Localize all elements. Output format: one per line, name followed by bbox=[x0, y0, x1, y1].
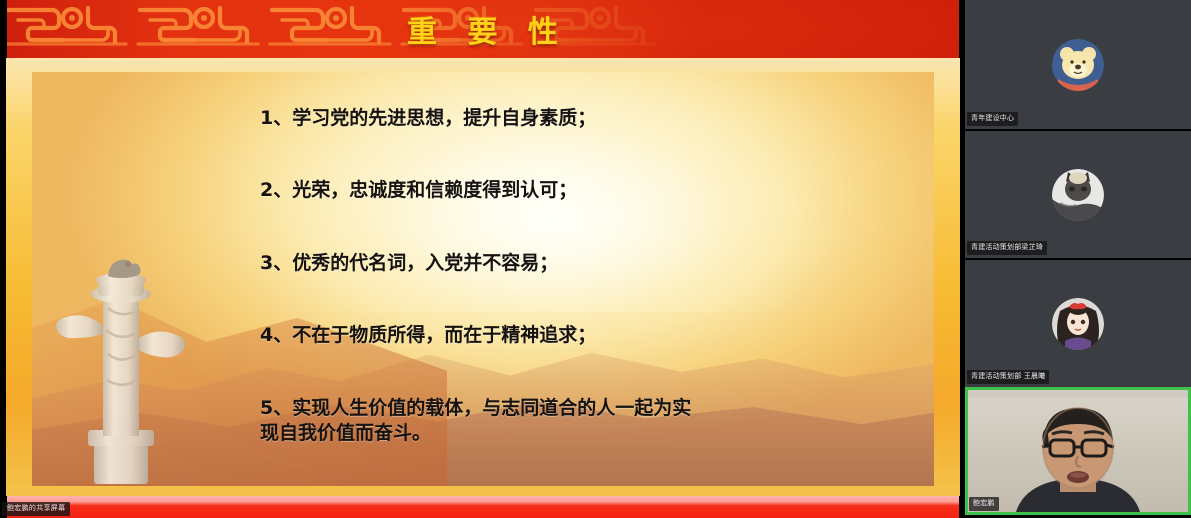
participant-tile[interactable]: 青建活动策划部 王晨曦 bbox=[965, 258, 1191, 387]
participant-tile[interactable]: 青建活动策划部梁芷琦 bbox=[965, 129, 1191, 258]
slide-title: 重 要 性 bbox=[0, 0, 965, 58]
list-item: 1、学习党的先进思想，提升自身素质； bbox=[260, 106, 900, 131]
participant-name: 青建活动策划部梁芷琦 bbox=[967, 241, 1047, 255]
banner-left-edge bbox=[0, 0, 7, 58]
participant-name: 鲍宏鹏 bbox=[969, 497, 999, 511]
pooh-bear-avatar-icon bbox=[1052, 39, 1104, 91]
slide-bottom-bar bbox=[0, 496, 965, 518]
presentation-slide: 重 要 性 bbox=[0, 0, 965, 518]
shared-screen-region[interactable]: 重 要 性 bbox=[0, 0, 965, 518]
participant-name: 青年建设中心 bbox=[967, 112, 1018, 126]
avatar bbox=[1052, 39, 1104, 91]
avatar bbox=[1052, 298, 1104, 350]
webcam-video-feed bbox=[968, 390, 1188, 512]
participant-tile[interactable]: 青年建设中心 bbox=[965, 0, 1191, 129]
participant-video-rail: 青年建设中心 青建活动策划部梁芷琦 bbox=[965, 0, 1191, 518]
slide-content-area: 1、学习党的先进思想，提升自身素质； 2、光荣，忠诚度和信赖度得到认可； 3、优… bbox=[32, 72, 934, 486]
webcam-person-image bbox=[968, 390, 1188, 512]
participant-name: 青建活动策划部 王晨曦 bbox=[967, 370, 1049, 384]
list-item: 2、光荣，忠诚度和信赖度得到认可； bbox=[260, 178, 900, 203]
list-item: 4、不在于物质所得，而在于精神追求； bbox=[260, 323, 900, 348]
huabiao-column-icon bbox=[56, 234, 188, 484]
shared-screen-nametag: 鲍宏鹏的共享屏幕 bbox=[2, 502, 70, 516]
list-item: 3、优秀的代名词，入党并不容易； bbox=[260, 251, 900, 276]
cat-photo-avatar-icon bbox=[1052, 169, 1104, 221]
avatar bbox=[1052, 169, 1104, 221]
slide-gold-frame: 1、学习党的先进思想，提升自身素质； 2、光荣，忠诚度和信赖度得到认可； 3、优… bbox=[6, 58, 960, 496]
slide-bullet-list: 1、学习党的先进思想，提升自身素质； 2、光荣，忠诚度和信赖度得到认可； 3、优… bbox=[260, 106, 900, 447]
snow-white-avatar-icon bbox=[1052, 298, 1104, 350]
video-conference-screen: 重 要 性 bbox=[0, 0, 1191, 518]
list-item: 5、实现人生价值的载体，与志同道合的人一起为实 现自我价值而奋斗。 bbox=[260, 396, 900, 447]
slide-title-banner: 重 要 性 bbox=[0, 0, 965, 58]
participant-tile-active-speaker[interactable]: 鲍宏鹏 bbox=[965, 387, 1191, 515]
